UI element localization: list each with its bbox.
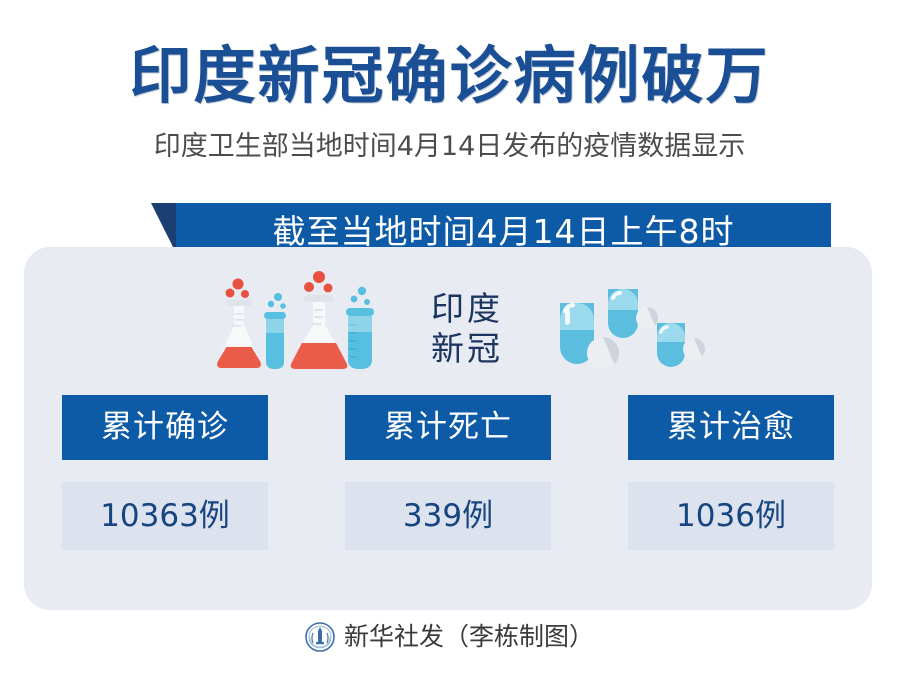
xinhua-agency-logo-icon — [305, 622, 335, 652]
stat-value-box-confirmed: 10363例 — [62, 482, 268, 550]
stat-value-box-recovered: 1036例 — [628, 482, 834, 550]
banner-label: 截至当地时间4月14日上午8时 — [273, 215, 735, 248]
stat-header-recovered: 累计治愈 — [628, 395, 834, 460]
stat-column-deaths: 累计死亡 339例 — [345, 395, 551, 550]
stat-label-recovered: 累计治愈 — [667, 412, 795, 443]
illustration-brand-text: 印度 新冠 — [412, 289, 522, 369]
stats-panel: 印度 新冠 — [24, 247, 872, 610]
stat-value-confirmed: 10363例 — [100, 501, 230, 532]
stat-header-deaths: 累计死亡 — [345, 395, 551, 460]
stat-label-confirmed: 累计确诊 — [101, 412, 229, 443]
stat-value-deaths: 339例 — [403, 501, 493, 532]
page-header: 印度新冠确诊病例破万 印度卫生部当地时间4月14日发布的疫情数据显示 — [0, 0, 899, 164]
page-footer: 新华社发（李栋制图） — [0, 622, 899, 652]
stat-value-recovered: 1036例 — [676, 501, 786, 532]
page-title: 印度新冠确诊病例破万 — [0, 0, 899, 112]
footer-credit: 新华社发（李栋制图） — [344, 622, 594, 652]
stats-row: 累计确诊 10363例 累计死亡 339例 累计治愈 1036例 — [24, 395, 872, 550]
illustration-row: 印度 新冠 — [24, 269, 872, 389]
page-subtitle: 印度卫生部当地时间4月14日发布的疫情数据显示 — [0, 112, 899, 164]
stat-column-confirmed: 累计确诊 10363例 — [62, 395, 268, 550]
brand-line-1: 印度 — [412, 289, 522, 329]
laboratory-flasks-icon — [194, 269, 394, 393]
stat-column-recovered: 累计治愈 1036例 — [628, 395, 834, 550]
stat-label-deaths: 累计死亡 — [384, 412, 512, 443]
stat-header-confirmed: 累计确诊 — [62, 395, 268, 460]
pills-capsules-icon — [524, 281, 724, 390]
brand-line-2: 新冠 — [412, 329, 522, 369]
stat-value-box-deaths: 339例 — [345, 482, 551, 550]
